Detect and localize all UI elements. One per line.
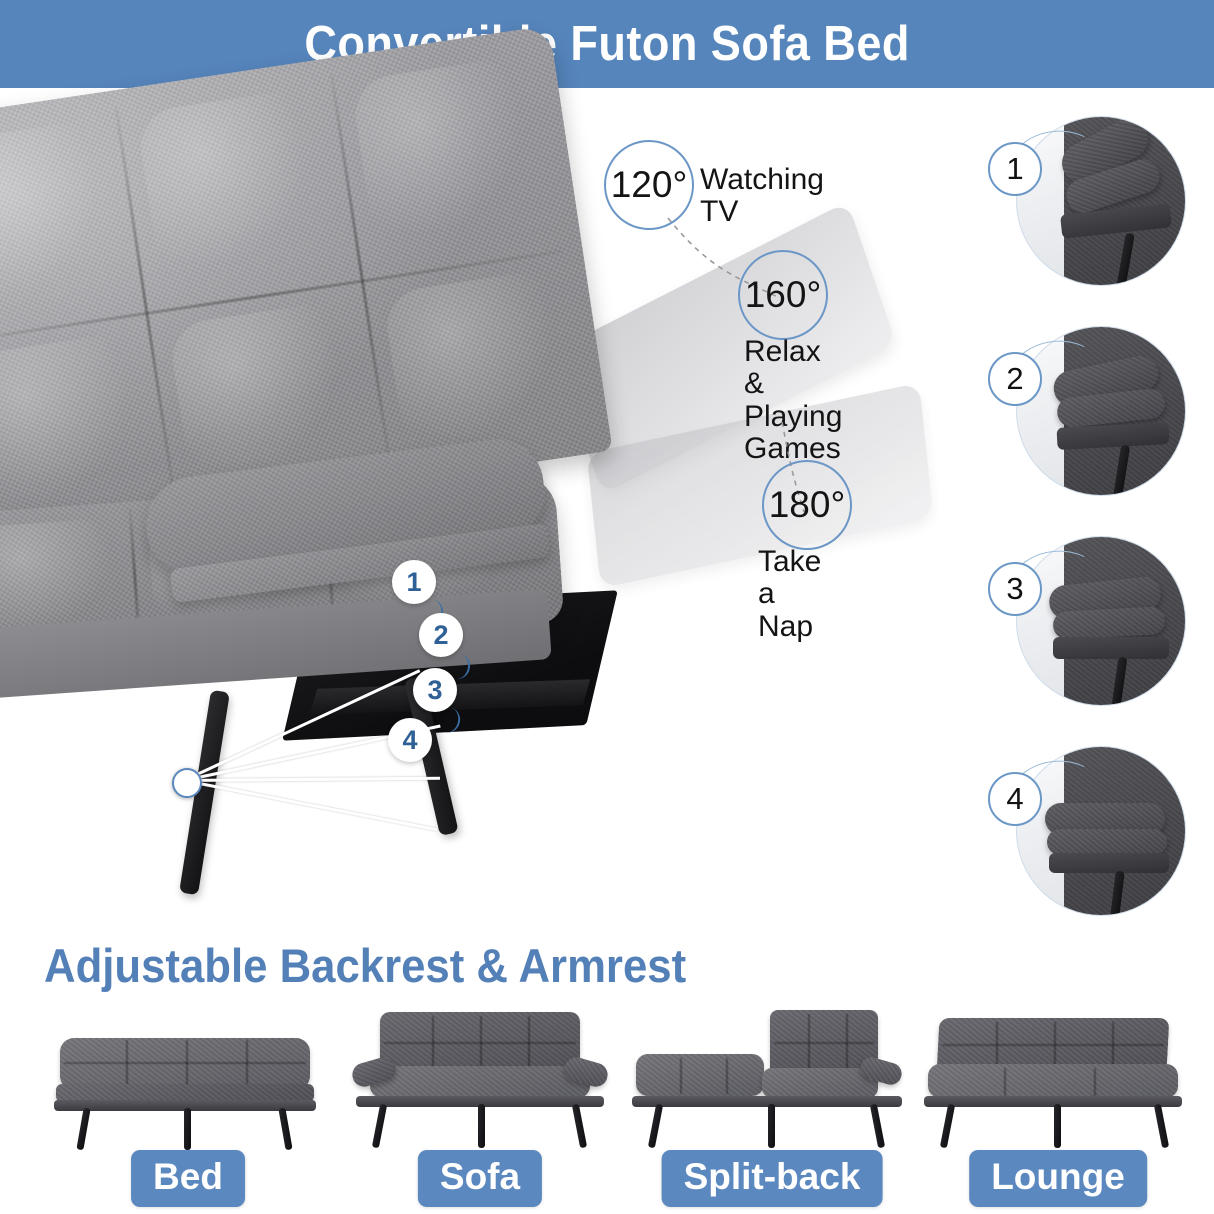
detail-badge-4: 4 [988,772,1042,826]
mode-lounge-illustration [908,1010,1208,1145]
header-banner: Convertible Futon Sofa Bed [0,0,1214,88]
detail-panel-3: 3 [988,536,1183,731]
mode-splitback: Split-back [622,1010,922,1210]
mode-label-lounge: Lounge [969,1150,1147,1207]
section-title-adjustable: Adjustable Backrest & Armrest [44,938,686,993]
armrest-callout-1: 1 [392,560,436,604]
mode-label-splitback: Split-back [662,1150,883,1207]
angle-label-180: Take a Nap [758,546,821,643]
armrest-callout-3: 3 [413,668,457,712]
mode-label-sofa: Sofa [418,1150,542,1207]
mode-bed: Bed [38,1010,338,1210]
angle-ring-160: 160° [738,250,828,340]
detail-panel-2: 2 [988,326,1183,521]
detail-panel-1: 1 [988,116,1183,311]
armrest-callout-4: 4 [388,718,432,762]
mode-splitback-illustration [622,1010,922,1145]
mode-sofa: Sofa [330,1010,630,1210]
mode-bed-illustration [38,1010,338,1145]
detail-badge-2: 2 [988,352,1042,406]
hero-stage: 1 2 3 4 120° Watching TV 160° Relax & Pl… [0,88,1214,930]
detail-badge-1: 1 [988,142,1042,196]
mode-lounge: Lounge [908,1010,1208,1210]
detail-badge-3: 3 [988,562,1042,616]
mode-label-bed: Bed [131,1150,245,1207]
armrest-callout-2: 2 [419,613,463,657]
infographic-page: Convertible Futon Sofa Bed [0,0,1214,1214]
detail-panel-4: 4 [988,746,1183,941]
angle-ring-180: 180° [762,460,852,550]
callout-pivot-point [172,768,202,798]
mode-sofa-illustration [330,1010,630,1145]
